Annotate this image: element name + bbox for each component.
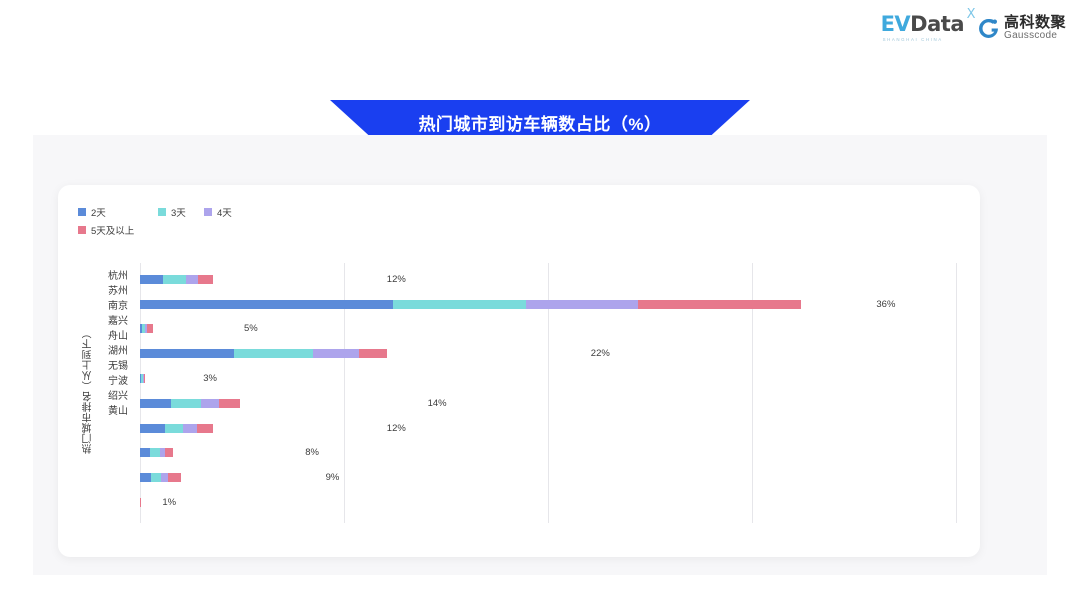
bar-segment-2[interactable] [151, 473, 161, 482]
legend-swatch-icon [78, 208, 86, 216]
category-label: 杭州 [96, 267, 134, 282]
bar-segment-2[interactable] [150, 448, 160, 457]
category-label: 湖州 [96, 342, 134, 357]
category-label: 无锡 [96, 357, 134, 372]
legend-item-4[interactable]: 5天及以上 [78, 223, 278, 237]
gausscode-text: 高科数聚 Gausscode [1004, 15, 1066, 41]
legend-swatch-icon [204, 208, 212, 216]
legend-swatch-icon [158, 208, 166, 216]
stacked-bar[interactable] [140, 349, 589, 358]
stacked-bar[interactable] [140, 448, 303, 457]
evdata-wordmark: EVDataX [881, 14, 964, 35]
brand-logo-bar: EVDataX SHANGHAI CHINA 高科数聚 Gausscode [881, 10, 1066, 46]
bar-segment-3[interactable] [526, 300, 638, 309]
evdata-tagline: SHANGHAI CHINA [883, 38, 943, 42]
bar-segment-2[interactable] [234, 349, 313, 358]
bar-segment-3[interactable] [201, 399, 219, 408]
evdata-logo: EVDataX SHANGHAI CHINA [881, 14, 964, 42]
legend-label: 5天及以上 [91, 223, 134, 237]
bar-segment-4[interactable] [168, 473, 181, 482]
bar-segment-2[interactable] [163, 275, 186, 284]
bar-segment-1[interactable] [140, 448, 150, 457]
gausscode-mark-icon [978, 18, 999, 39]
bar-row: 3% [140, 366, 956, 391]
gridline-40 [956, 263, 957, 523]
legend-item-2[interactable]: 3天 [158, 205, 204, 219]
bar-value-label: 12% [387, 274, 406, 285]
bar-segment-1[interactable] [140, 300, 393, 309]
legend-label: 2天 [91, 205, 106, 219]
bar-segment-1[interactable] [140, 473, 151, 482]
bar-row: 14% [140, 391, 956, 416]
stacked-bar[interactable] [140, 324, 242, 333]
bar-segment-2[interactable] [171, 399, 200, 408]
stacked-bar[interactable] [140, 275, 385, 284]
stacked-bar[interactable] [140, 399, 426, 408]
bar-value-label: 12% [387, 423, 406, 434]
bar-value-label: 14% [428, 398, 447, 409]
bar-rows: 12%36%5%22%3%14%12%8%9%1% [140, 267, 956, 515]
bar-segment-2[interactable] [165, 424, 183, 433]
bar-row: 12% [140, 267, 956, 292]
bar-segment-1[interactable] [140, 424, 165, 433]
bar-segment-1[interactable] [140, 399, 171, 408]
bar-row: 9% [140, 465, 956, 490]
bar-segment-4[interactable] [144, 374, 145, 383]
category-label: 宁波 [96, 372, 134, 387]
stacked-bar[interactable] [140, 424, 385, 433]
legend-label: 4天 [217, 205, 232, 219]
bar-value-label: 8% [305, 447, 319, 458]
stacked-bar[interactable] [140, 374, 201, 383]
bar-row: 22% [140, 341, 956, 366]
chart-card: 2天3天4天5天及以上 热门城市排名（从上到下） 杭州苏州南京嘉兴舟山湖州无锡宁… [58, 185, 980, 557]
bar-row: 1% [140, 490, 956, 515]
category-label: 苏州 [96, 282, 134, 297]
bar-segment-1[interactable] [140, 275, 163, 284]
bar-segment-4[interactable] [165, 448, 172, 457]
category-label: 嘉兴 [96, 312, 134, 327]
category-label: 南京 [96, 297, 134, 312]
legend-swatch-icon [78, 226, 86, 234]
y-axis-title: 热门城市排名（从上到下） [80, 267, 96, 515]
bar-segment-3[interactable] [313, 349, 359, 358]
evdata-superscript-x: X [967, 8, 975, 21]
category-label: 舟山 [96, 327, 134, 342]
gausscode-name-cn: 高科数聚 [1004, 15, 1066, 31]
bar-row: 36% [140, 292, 956, 317]
bar-segment-3[interactable] [186, 275, 198, 284]
bar-value-label: 22% [591, 348, 610, 359]
legend-label: 3天 [171, 205, 186, 219]
bar-value-label: 3% [203, 373, 217, 384]
legend-item-3[interactable]: 4天 [204, 205, 264, 219]
evdata-wordmark-data: Data [910, 12, 964, 36]
bar-row: 12% [140, 416, 956, 441]
chart-legend: 2天3天4天5天及以上 [78, 205, 378, 237]
bar-segment-4[interactable] [359, 349, 387, 358]
stacked-bar[interactable] [140, 473, 324, 482]
plot-area: 12%36%5%22%3%14%12%8%9%1% [140, 267, 956, 515]
bar-segment-3[interactable] [183, 424, 196, 433]
category-axis: 杭州苏州南京嘉兴舟山湖州无锡宁波绍兴黄山 [96, 267, 134, 515]
bar-segment-1[interactable] [140, 349, 234, 358]
evdata-wordmark-ev: EV [881, 12, 911, 36]
legend-item-1[interactable]: 2天 [78, 205, 158, 219]
bar-segment-4[interactable] [638, 300, 801, 309]
gausscode-name-en: Gausscode [1004, 31, 1066, 42]
category-label: 绍兴 [96, 387, 134, 402]
bar-value-label: 5% [244, 323, 258, 334]
stacked-bar[interactable] [140, 498, 160, 507]
bar-segment-2[interactable] [393, 300, 525, 309]
plot-container: 杭州苏州南京嘉兴舟山湖州无锡宁波绍兴黄山 12%36%5%22%3%14%12%… [96, 267, 956, 515]
bar-value-label: 9% [326, 472, 340, 483]
bar-segment-4[interactable] [197, 424, 214, 433]
bar-segment-4[interactable] [219, 399, 240, 408]
bar-row: 8% [140, 441, 956, 466]
bar-value-label: 36% [876, 299, 895, 310]
bar-segment-4[interactable] [198, 275, 213, 284]
bar-segment-4[interactable] [147, 324, 153, 333]
bar-segment-3[interactable] [161, 473, 168, 482]
y-axis-title-text: 热门城市排名（从上到下） [81, 328, 96, 454]
stacked-bar-chart: 热门城市排名（从上到下） 杭州苏州南京嘉兴舟山湖州无锡宁波绍兴黄山 12%36%… [78, 267, 956, 515]
category-label: 黄山 [96, 402, 134, 417]
bar-row: 5% [140, 317, 956, 342]
gausscode-logo: 高科数聚 Gausscode [978, 15, 1066, 41]
stacked-bar[interactable] [140, 300, 874, 309]
bar-value-label: 1% [162, 497, 176, 508]
